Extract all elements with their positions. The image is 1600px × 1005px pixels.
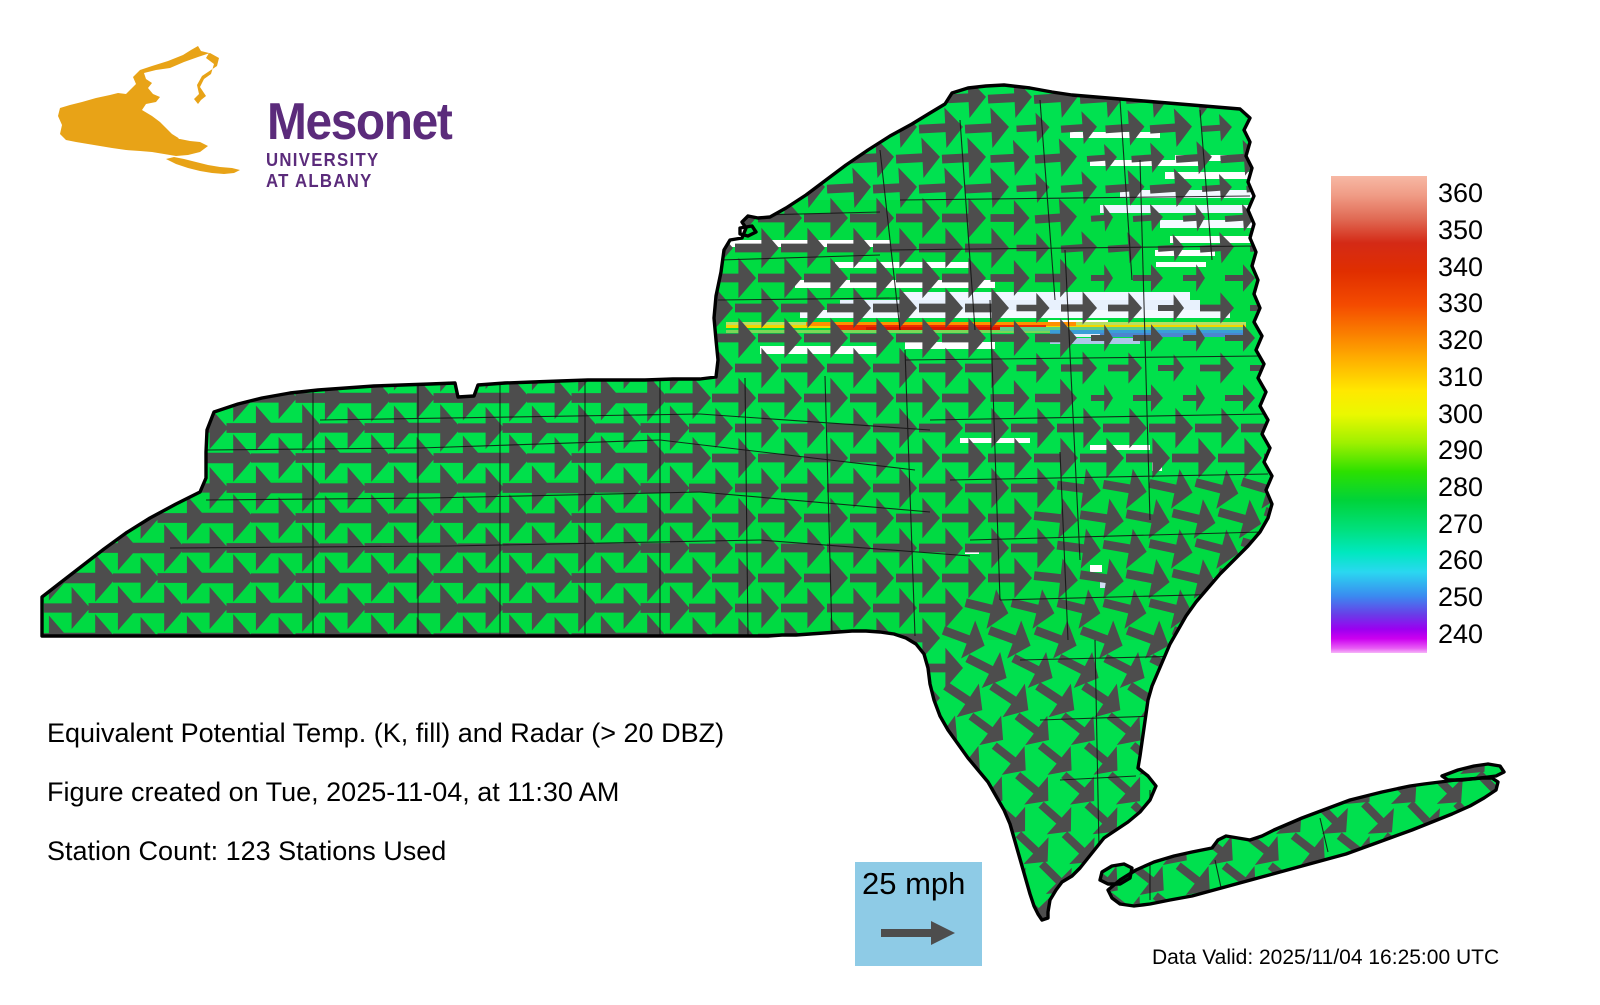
colorbar-tick-240: 240 xyxy=(1438,621,1483,648)
wind-arrow xyxy=(409,224,461,272)
wind-arrow xyxy=(158,675,207,720)
wind-arrow xyxy=(1447,76,1494,119)
wind-arrow xyxy=(1282,462,1337,515)
wind-arrow xyxy=(89,345,138,390)
wind-arrow xyxy=(340,674,392,722)
wind-arrow xyxy=(503,225,552,270)
wind-arrow xyxy=(477,73,531,123)
wind-arrow xyxy=(1466,881,1520,935)
wind-arrow xyxy=(1302,669,1361,727)
wind-arrow xyxy=(158,435,207,480)
wind-arrow xyxy=(599,890,639,927)
wind-arrow xyxy=(1431,113,1463,143)
wind-arrow xyxy=(44,647,90,689)
wind-arrow xyxy=(596,647,642,689)
wind-speed-legend: 25 mph xyxy=(855,862,982,966)
wind-arrow xyxy=(501,104,552,152)
wind-arrow xyxy=(339,73,393,123)
wind-arrow xyxy=(781,648,825,688)
wind-arrow xyxy=(319,166,367,211)
wind-arrow xyxy=(1397,851,1451,905)
wind-arrow xyxy=(665,677,711,719)
wind-arrow xyxy=(296,315,345,360)
wind-arrow xyxy=(44,227,90,269)
wind-arrow xyxy=(20,375,69,420)
wind-arrow xyxy=(250,136,298,181)
wind-arrow xyxy=(595,106,643,151)
wind-arrow xyxy=(665,257,711,299)
wind-arrow xyxy=(1316,143,1348,173)
wind-arrow xyxy=(250,76,298,121)
wind-arrow xyxy=(645,890,685,927)
wind-arrow xyxy=(89,225,138,270)
wind-arrow xyxy=(1167,731,1221,785)
wind-arrow xyxy=(112,136,160,181)
wind-arrow xyxy=(365,285,414,330)
wind-arrow xyxy=(826,107,872,150)
wind-arrow xyxy=(615,133,669,183)
wind-arrow xyxy=(478,314,530,362)
wind-arrow xyxy=(1258,611,1313,664)
wind-arrow xyxy=(89,645,138,690)
wind-arrow xyxy=(44,467,90,509)
wind-arrow xyxy=(712,678,756,718)
wind-arrow xyxy=(1188,640,1246,696)
wind-arrow xyxy=(64,254,116,302)
wind-arrow xyxy=(1475,112,1510,145)
wind-arrow xyxy=(319,106,367,151)
wind-arrow xyxy=(1489,851,1543,905)
wind-arrow xyxy=(202,194,254,242)
wind-arrow xyxy=(432,74,483,122)
wind-arrow xyxy=(340,254,392,302)
theta-e-colorbar xyxy=(1331,176,1427,653)
wind-arrow xyxy=(296,675,345,720)
wind-arrow xyxy=(616,674,668,722)
wind-arrow xyxy=(270,103,324,153)
wind-arrow xyxy=(18,74,69,122)
wind-arrow xyxy=(527,317,573,359)
colorbar-tick-360: 360 xyxy=(1438,180,1483,207)
wind-arrow xyxy=(665,197,711,239)
wind-arrow xyxy=(546,163,600,213)
wind-arrow xyxy=(1275,384,1297,412)
wind-arrow xyxy=(432,134,483,182)
wind-arrow xyxy=(664,136,712,181)
wind-arrow xyxy=(1167,791,1221,845)
wind-arrow xyxy=(227,645,276,690)
wind-arrow xyxy=(271,284,323,332)
wind-arrow xyxy=(89,465,138,510)
wind-arrow xyxy=(43,106,91,151)
wind-arrow xyxy=(937,791,991,845)
wind-arrow xyxy=(20,675,69,720)
wind-arrow xyxy=(737,890,777,927)
wind-arrow xyxy=(1401,76,1448,119)
wind-arrow xyxy=(735,648,779,688)
wind-arrow xyxy=(64,374,116,422)
wind-arrow xyxy=(113,677,159,719)
wind-arrow xyxy=(1328,881,1382,935)
wind-arrow xyxy=(64,494,116,542)
wind-arrow xyxy=(133,224,185,272)
colorbar-tick-340: 340 xyxy=(1438,254,1483,281)
wind-arrow xyxy=(320,647,366,689)
wind-arrow xyxy=(225,104,276,152)
wind-arrow xyxy=(231,890,271,927)
wind-arrow xyxy=(113,437,159,479)
wind-arrow xyxy=(1466,821,1520,875)
wind-arrow xyxy=(1328,701,1382,755)
wind-arrow xyxy=(434,255,483,300)
wind-arrow xyxy=(388,76,436,121)
wind-arrow xyxy=(478,674,530,722)
wind-arrow xyxy=(689,648,733,688)
wind-arrow xyxy=(1486,669,1545,727)
wind-arrow xyxy=(527,677,573,719)
wind-arrow xyxy=(1275,324,1297,352)
wind-arrow xyxy=(64,314,116,362)
wind-arrow xyxy=(572,675,621,720)
wind-arrow xyxy=(365,645,414,690)
wind-arrow xyxy=(1190,761,1244,815)
wind-arrow xyxy=(434,315,483,360)
wind-arrow xyxy=(202,254,254,302)
wind-arrow xyxy=(1234,640,1292,696)
wind-arrow xyxy=(133,284,185,332)
wind-arrow-icon xyxy=(881,918,957,948)
wind-arrow xyxy=(1280,640,1338,696)
wind-legend-label: 25 mph xyxy=(862,866,965,902)
caption-title: Equivalent Potential Temp. (K, fill) and… xyxy=(47,718,927,749)
wind-arrow xyxy=(527,197,573,239)
wind-arrow xyxy=(1164,669,1223,727)
wind-arrow xyxy=(251,317,297,359)
wind-arrow xyxy=(665,317,711,359)
wind-arrow xyxy=(408,163,462,213)
figure-root: NYS Mesonet UNIVERSITY AT ALBANY xyxy=(0,0,1600,1000)
wind-arrow xyxy=(1236,761,1290,815)
wind-arrow xyxy=(641,285,690,330)
wind-arrow xyxy=(527,257,573,299)
wind-arrow xyxy=(18,134,69,182)
wind-arrow xyxy=(20,315,69,360)
colorbar-tick-260: 260 xyxy=(1438,547,1483,574)
colorbar-gradient xyxy=(1331,176,1427,653)
wind-arrow xyxy=(158,195,207,240)
wind-arrow xyxy=(461,890,501,927)
wind-arrow xyxy=(1351,851,1405,905)
wind-arrow xyxy=(113,197,159,239)
wind-arrow xyxy=(1489,791,1543,845)
wind-arrow xyxy=(1360,142,1395,175)
colorbar-tick-350: 350 xyxy=(1438,217,1483,244)
wind-arrow xyxy=(572,315,621,360)
wind-arrow xyxy=(1290,170,1328,206)
wind-arrow xyxy=(570,74,621,122)
wind-arrow xyxy=(251,197,297,239)
wind-arrow xyxy=(113,377,159,419)
wind-arrow xyxy=(478,194,530,242)
wind-arrow xyxy=(20,435,69,480)
wind-arrow xyxy=(389,317,435,359)
wind-arrow xyxy=(132,103,186,153)
wind-arrow xyxy=(271,224,323,272)
wind-arrow xyxy=(47,890,87,927)
wind-arrow xyxy=(388,136,436,181)
wind-arrow xyxy=(1275,264,1297,292)
wind-arrow xyxy=(547,224,599,272)
wind-arrow xyxy=(201,133,255,183)
wind-arrow xyxy=(639,104,690,152)
wind-arrow xyxy=(757,137,803,180)
wind-arrow xyxy=(64,434,116,482)
wind-arrow xyxy=(688,107,734,150)
figure-caption-block: Equivalent Potential Temp. (K, fill) and… xyxy=(47,718,927,895)
wind-arrow xyxy=(850,678,894,718)
wind-arrow xyxy=(320,227,366,269)
wind-arrow xyxy=(182,347,228,389)
wind-arrow xyxy=(227,285,276,330)
wind-arrow xyxy=(43,166,91,211)
wind-arrow xyxy=(688,167,734,210)
wind-arrow xyxy=(409,644,461,692)
wind-arrow xyxy=(156,74,207,122)
wind-arrow xyxy=(501,164,552,212)
colorbar-tick-270: 270 xyxy=(1438,511,1483,538)
caption-created: Figure created on Tue, 2025-11-04, at 11… xyxy=(47,777,927,808)
wind-arrow xyxy=(616,194,668,242)
wind-arrow xyxy=(1274,203,1298,232)
wind-arrow xyxy=(415,890,455,927)
wind-arrow xyxy=(639,164,690,212)
caption-station-count: Station Count: 123 Stations Used xyxy=(47,836,927,867)
wind-arrow xyxy=(277,890,317,927)
wind-arrow xyxy=(1212,611,1267,664)
wind-arrow xyxy=(526,76,574,121)
wind-arrow xyxy=(1334,109,1375,148)
wind-arrow xyxy=(202,314,254,362)
wind-arrow xyxy=(1379,107,1424,148)
wind-arrow xyxy=(271,344,323,392)
wind-arrow xyxy=(711,137,757,180)
wind-arrow xyxy=(64,674,116,722)
wind-arrow xyxy=(20,255,69,300)
wind-arrow xyxy=(320,347,366,389)
wind-arrow xyxy=(803,77,849,120)
wind-arrow xyxy=(757,77,803,120)
wind-arrow xyxy=(526,136,574,181)
wind-arrow xyxy=(1493,76,1540,119)
wind-arrow xyxy=(507,890,547,927)
wind-arrow xyxy=(1292,292,1326,323)
wind-arrow xyxy=(1494,137,1539,178)
wind-arrow xyxy=(389,677,435,719)
wind-arrow xyxy=(44,407,90,449)
wind-arrow xyxy=(458,647,504,689)
wind-arrow xyxy=(1259,552,1313,604)
wind-arrow xyxy=(1374,701,1428,755)
wind-arrow xyxy=(1213,731,1267,785)
wind-arrow xyxy=(64,194,116,242)
wind-arrow xyxy=(1263,76,1310,119)
wind-arrow xyxy=(340,314,392,362)
wind-arrow xyxy=(596,287,642,329)
wind-arrow xyxy=(458,227,504,269)
wind-arrow xyxy=(711,77,757,120)
colorbar-tick-300: 300 xyxy=(1438,401,1483,428)
wind-arrow xyxy=(93,890,133,927)
wind-arrow xyxy=(156,134,207,182)
wind-arrow xyxy=(1287,408,1331,448)
wind-arrow xyxy=(804,678,848,718)
wind-arrow xyxy=(1291,231,1327,265)
wind-arrow xyxy=(570,134,621,182)
wind-arrow xyxy=(389,257,435,299)
wind-arrow xyxy=(1236,701,1290,755)
wind-arrow xyxy=(616,254,668,302)
wind-arrow xyxy=(133,404,185,452)
wind-arrow xyxy=(408,103,462,153)
wind-arrow xyxy=(44,347,90,389)
wind-arrow xyxy=(158,315,207,360)
wind-arrow xyxy=(691,890,731,927)
wind-arrow xyxy=(270,163,324,213)
wind-arrow xyxy=(1348,669,1407,727)
wind-arrow xyxy=(1420,701,1474,755)
wind-arrow xyxy=(457,106,505,151)
colorbar-tick-320: 320 xyxy=(1438,327,1483,354)
wind-arrow xyxy=(641,225,690,270)
wind-arrow xyxy=(227,225,276,270)
wind-arrow xyxy=(595,166,643,211)
colorbar-tick-290: 290 xyxy=(1438,437,1483,464)
wind-arrow xyxy=(363,104,414,152)
wind-arrow xyxy=(457,166,505,211)
wind-arrow xyxy=(87,104,138,152)
wind-arrow xyxy=(225,164,276,212)
wind-arrow xyxy=(409,284,461,332)
wind-arrow xyxy=(363,164,414,212)
wind-arrow xyxy=(227,345,276,390)
wind-arrow xyxy=(1420,881,1474,935)
wind-arrow xyxy=(547,644,599,692)
wind-arrow xyxy=(185,890,225,927)
wind-arrow xyxy=(323,890,363,927)
wind-arrow xyxy=(339,133,393,183)
wind-arrow xyxy=(1282,522,1337,575)
wind-arrow xyxy=(1420,821,1474,875)
wind-arrow xyxy=(596,227,642,269)
wind-arrow xyxy=(1440,669,1499,727)
wind-arrow xyxy=(44,527,90,569)
wind-arrow xyxy=(113,257,159,299)
wind-arrow xyxy=(1264,137,1309,178)
wind-arrow xyxy=(1351,731,1405,785)
wind-arrow xyxy=(458,287,504,329)
wind-arrow xyxy=(139,890,179,927)
wind-arrow xyxy=(89,405,138,450)
wind-arrow xyxy=(1443,851,1497,905)
wind-arrow xyxy=(201,73,255,123)
wind-arrow xyxy=(827,648,871,688)
wind-arrow xyxy=(783,890,823,927)
wind-arrow xyxy=(294,74,345,122)
wind-arrow xyxy=(112,76,160,121)
wind-arrow xyxy=(1256,669,1315,727)
wind-arrow xyxy=(202,674,254,722)
wind-arrow xyxy=(271,644,323,692)
wind-arrow xyxy=(1355,76,1402,119)
wind-arrow xyxy=(158,255,207,300)
wind-arrow xyxy=(553,890,593,927)
colorbar-tick-310: 310 xyxy=(1438,364,1483,391)
wind-arrow xyxy=(182,647,228,689)
wind-arrow xyxy=(320,287,366,329)
wind-arrow xyxy=(503,285,552,330)
wind-arrow xyxy=(389,197,435,239)
wind-arrow xyxy=(181,106,229,151)
wind-arrow xyxy=(251,257,297,299)
wind-arrow xyxy=(641,645,690,690)
wind-arrow xyxy=(133,644,185,692)
wind-arrow xyxy=(664,76,712,121)
wind-arrow xyxy=(1237,583,1289,633)
wind-arrow xyxy=(365,225,414,270)
wind-arrow xyxy=(616,314,668,362)
wind-arrow xyxy=(572,255,621,300)
data-valid-timestamp: Data Valid: 2025/11/04 16:25:00 UTC xyxy=(1152,946,1499,970)
wind-arrow xyxy=(369,890,409,927)
wind-arrow xyxy=(113,317,159,359)
wind-arrow xyxy=(1394,669,1453,727)
wind-arrow xyxy=(1259,731,1313,785)
wind-arrow xyxy=(1449,139,1490,178)
wind-arrow xyxy=(44,287,90,329)
wind-arrow xyxy=(20,195,69,240)
wind-arrow xyxy=(1210,669,1269,727)
wind-arrow xyxy=(1282,701,1336,755)
wind-arrow xyxy=(478,254,530,302)
wind-arrow xyxy=(63,73,117,123)
wind-arrow xyxy=(477,133,531,183)
colorbar-tick-280: 280 xyxy=(1438,474,1483,501)
wind-arrow xyxy=(547,284,599,332)
wind-arrow xyxy=(182,287,228,329)
wind-arrow xyxy=(133,344,185,392)
wind-arrow xyxy=(1292,352,1326,383)
wind-arrow xyxy=(87,164,138,212)
colorbar-tick-250: 250 xyxy=(1438,584,1483,611)
wind-arrow xyxy=(63,133,117,183)
wind-arrow xyxy=(296,195,345,240)
wind-arrow xyxy=(132,163,186,213)
wind-arrow xyxy=(434,675,483,720)
wind-arrow xyxy=(1190,701,1244,755)
wind-arrow xyxy=(780,107,826,150)
wind-arrow xyxy=(251,677,297,719)
wind-arrow xyxy=(1305,731,1359,785)
wind-arrow xyxy=(734,107,780,150)
wind-arrow xyxy=(849,77,895,120)
wind-arrow xyxy=(546,103,600,153)
wind-arrow xyxy=(1052,881,1106,935)
wind-arrow xyxy=(20,495,69,540)
wind-arrow xyxy=(1283,583,1335,633)
wind-arrow xyxy=(1374,881,1428,935)
wind-arrow xyxy=(434,195,483,240)
wind-arrow xyxy=(1405,140,1443,176)
